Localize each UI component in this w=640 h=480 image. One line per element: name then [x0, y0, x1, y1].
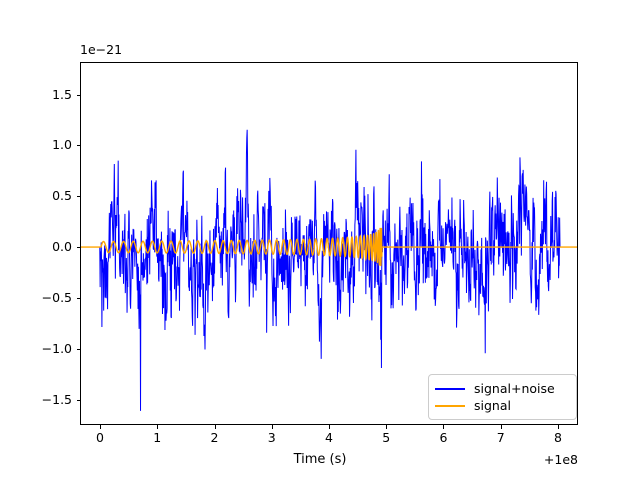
- x-axis-offset-text: +1e8: [520, 452, 578, 467]
- x-tick-label: 8: [538, 430, 578, 445]
- x-tick-label: 3: [252, 430, 292, 445]
- plot-canvas: [81, 63, 577, 424]
- y-tick-mark: [77, 298, 81, 299]
- x-tick-label: 7: [481, 430, 521, 445]
- legend-swatch-signal-noise: [435, 388, 465, 390]
- y-tick-label: 1.5: [0, 87, 80, 102]
- legend-item-signal[interactable]: signal: [435, 397, 570, 414]
- x-tick-mark: [558, 425, 559, 429]
- x-tick-label: 5: [366, 430, 406, 445]
- y-tick-mark: [77, 400, 81, 401]
- y-tick-label: −1.5: [0, 392, 80, 407]
- legend-item-signal-noise[interactable]: signal+noise: [435, 380, 570, 397]
- y-tick-label: 1.0: [0, 137, 80, 152]
- series-signal-noise: [81, 130, 577, 411]
- x-tick-label: 6: [423, 430, 463, 445]
- x-tick-mark: [329, 425, 330, 429]
- y-tick-label: 0.0: [0, 239, 80, 254]
- x-tick-mark: [100, 425, 101, 429]
- y-tick-label: 0.5: [0, 188, 80, 203]
- y-tick-mark: [77, 349, 81, 350]
- y-tick-mark: [77, 247, 81, 248]
- matplotlib-figure: 1e−21 1.51.00.50.0−0.5−1.0−1.5 012345678…: [0, 0, 640, 480]
- x-tick-mark: [386, 425, 387, 429]
- y-axis-offset-text: 1e−21: [80, 42, 122, 57]
- y-tick-label: −0.5: [0, 290, 80, 305]
- x-tick-mark: [443, 425, 444, 429]
- plot-axes: [80, 62, 578, 425]
- y-tick-mark: [77, 196, 81, 197]
- y-tick-mark: [77, 95, 81, 96]
- legend-label-signal-noise: signal+noise: [474, 382, 555, 395]
- x-tick-label: 0: [80, 430, 120, 445]
- x-tick-mark: [215, 425, 216, 429]
- x-tick-label: 1: [137, 430, 177, 445]
- x-tick-mark: [501, 425, 502, 429]
- x-tick-mark: [157, 425, 158, 429]
- x-tick-label: 2: [195, 430, 235, 445]
- x-tick-mark: [272, 425, 273, 429]
- legend[interactable]: signal+noise signal: [428, 374, 577, 420]
- legend-label-signal: signal: [474, 399, 511, 412]
- x-tick-label: 4: [309, 430, 349, 445]
- y-tick-mark: [77, 145, 81, 146]
- y-tick-label: −1.0: [0, 341, 80, 356]
- legend-swatch-signal: [435, 405, 465, 407]
